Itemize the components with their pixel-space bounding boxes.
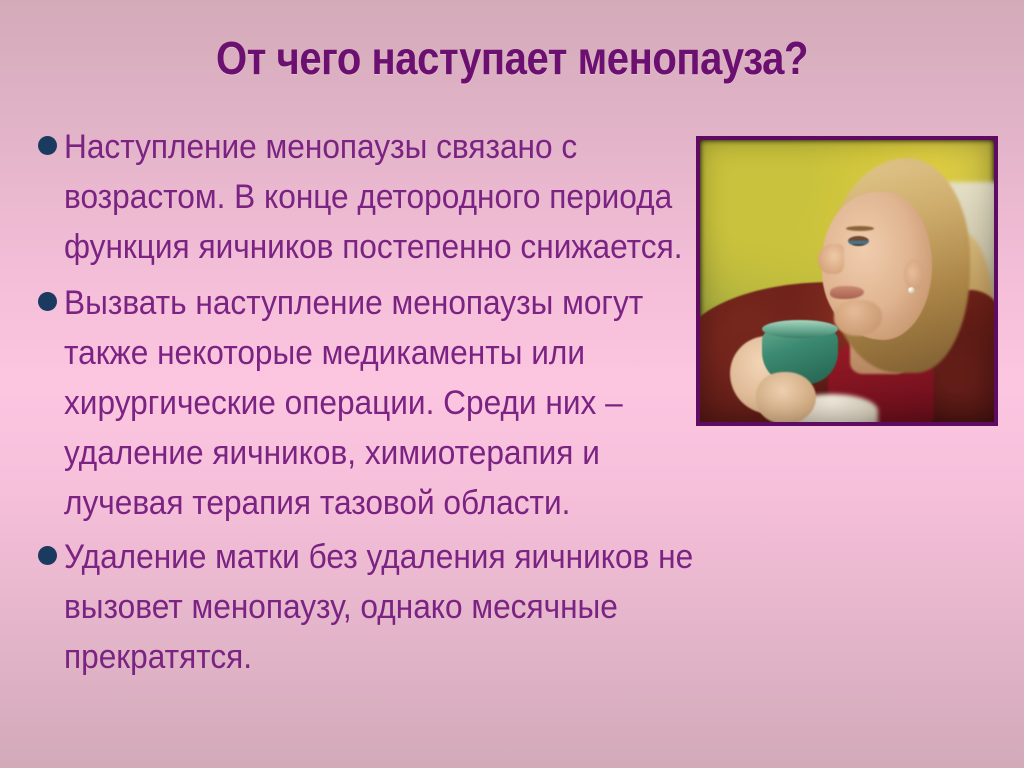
photo-content: [700, 140, 994, 422]
filled-circle-bullet-icon: [38, 546, 57, 565]
ear: [904, 260, 924, 290]
bullet-list: Наступление менопаузы связано с возрасто…: [22, 122, 712, 688]
presentation-slide: От чего наступает менопауза? Наступление…: [0, 0, 1024, 768]
green-mug-rim: [762, 320, 838, 338]
earring: [908, 287, 915, 294]
bullet-item-text: Наступление менопаузы связано с возрасто…: [64, 122, 712, 272]
hand-lower: [756, 372, 816, 422]
woman-with-mug-photo: [696, 136, 998, 426]
filled-circle-bullet-icon: [38, 292, 57, 311]
filled-circle-bullet-icon: [38, 136, 57, 155]
bullet-item-text: Удаление матки без удаления яичников не …: [64, 532, 712, 682]
nose: [818, 244, 844, 274]
eyebrow: [846, 226, 874, 231]
slide-title: От чего наступает менопауза?: [67, 32, 958, 84]
bullet-list-item: Вызвать наступление менопаузы могут такж…: [22, 278, 712, 528]
bullet-list-item: Наступление менопаузы связано с возрасто…: [22, 122, 712, 272]
eye: [848, 236, 869, 246]
bullet-item-text: Вызвать наступление менопаузы могут такж…: [64, 278, 712, 528]
bullet-list-item: Удаление матки без удаления яичников не …: [22, 532, 712, 682]
